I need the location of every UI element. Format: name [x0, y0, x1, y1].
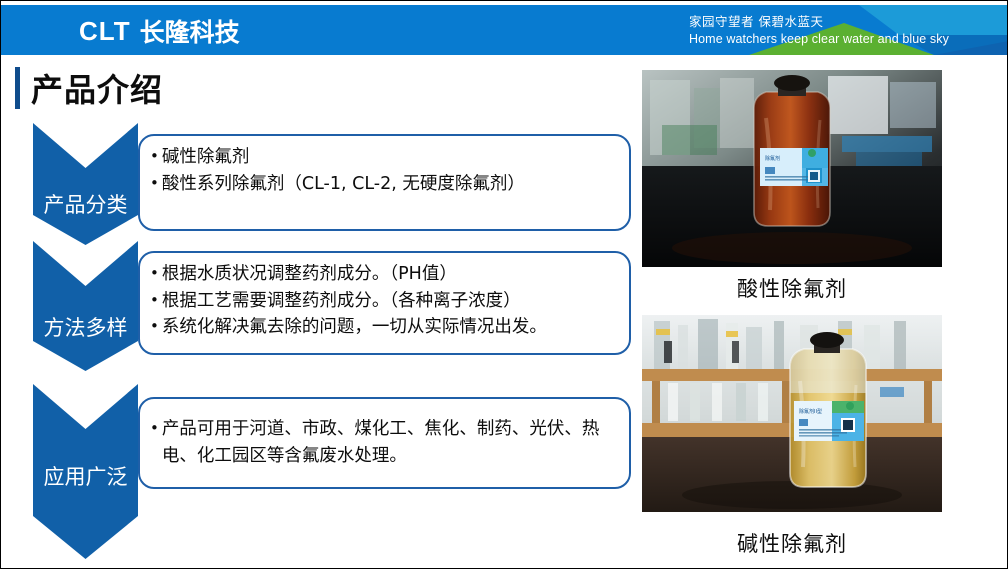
section-label-2: 方法多样	[33, 312, 138, 342]
section-bubble-1: • 碱性除氟剂 • 酸性系列除氟剂（CL-1, CL-2, 无硬度除氟剂）	[138, 134, 631, 231]
product-photo-alkaline-svg: 除氟剂II型	[642, 315, 942, 512]
product-photo-acidic: 除氟剂	[642, 70, 942, 267]
slogan-english: Home watchers keep clear water and blue …	[689, 31, 949, 48]
title-text: 产品介绍	[31, 65, 163, 111]
product-photo-alkaline: 除氟剂II型	[642, 315, 942, 512]
logo-chinese-text: 长隆科技	[140, 13, 240, 49]
photo-caption-acidic: 酸性除氟剂	[642, 273, 942, 303]
bullet-item: • 产品可用于河道、市政、煤化工、焦化、制药、光伏、热电、化工园区等含氟废水处理…	[150, 416, 615, 469]
bullet-item: • 酸性系列除氟剂（CL-1, CL-2, 无硬度除氟剂）	[150, 171, 615, 198]
bullet-item: • 根据工艺需要调整药剂成分。（各种离子浓度）	[150, 288, 615, 315]
bottle-label-title: 除氟剂II型	[799, 408, 822, 415]
section-label-1: 产品分类	[33, 189, 138, 219]
product-photo-acidic-svg: 除氟剂	[642, 70, 942, 267]
bullet-dot-icon: •	[150, 171, 159, 195]
bullet-text: 酸性系列除氟剂（CL-1, CL-2, 无硬度除氟剂）	[162, 171, 525, 198]
title-accent-bar	[15, 67, 20, 109]
page-title: 产品介绍	[15, 65, 163, 111]
bullet-dot-icon: •	[150, 416, 159, 440]
bottle-label-title: 除氟剂	[765, 155, 780, 162]
slogan-block: 家园守望者 保碧水蓝天 Home watchers keep clear wat…	[689, 14, 949, 48]
section-label-3: 应用广泛	[33, 461, 138, 491]
chevron-2-svg	[33, 241, 138, 371]
company-logo: CLT 长隆科技	[79, 17, 240, 45]
bullet-dot-icon: •	[150, 144, 159, 168]
logo-latin-text: CLT	[79, 16, 131, 47]
chevron-shape-2	[33, 241, 138, 371]
slide: CLT 长隆科技 家园守望者 保碧水蓝天 Home watchers keep …	[0, 0, 1008, 569]
bullet-dot-icon: •	[150, 314, 159, 338]
bullet-text: 产品可用于河道、市政、煤化工、焦化、制药、光伏、热电、化工园区等含氟废水处理。	[162, 416, 615, 469]
photo-caption-alkaline: 碱性除氟剂	[642, 528, 942, 558]
slogan-chinese: 家园守望者 保碧水蓝天	[689, 14, 949, 31]
chevron-shape-1	[33, 123, 138, 245]
bullet-item: • 碱性除氟剂	[150, 144, 615, 171]
header-banner: CLT 长隆科技 家园守望者 保碧水蓝天 Home watchers keep …	[1, 5, 1008, 55]
bullet-text: 根据工艺需要调整药剂成分。（各种离子浓度）	[162, 288, 521, 315]
bullet-dot-icon: •	[150, 288, 159, 312]
bullet-item: • 系统化解决氟去除的问题，一切从实际情况出发。	[150, 314, 615, 341]
bullet-dot-icon: •	[150, 261, 159, 285]
bullet-text: 系统化解决氟去除的问题，一切从实际情况出发。	[162, 314, 547, 341]
section-bubble-2: • 根据水质状况调整药剂成分。（PH值） • 根据工艺需要调整药剂成分。（各种离…	[138, 251, 631, 355]
bullet-text: 根据水质状况调整药剂成分。（PH值）	[162, 261, 457, 288]
bullet-text: 碱性除氟剂	[162, 144, 250, 171]
bullet-item: • 根据水质状况调整药剂成分。（PH值）	[150, 261, 615, 288]
section-bubble-3: • 产品可用于河道、市政、煤化工、焦化、制药、光伏、热电、化工园区等含氟废水处理…	[138, 397, 631, 489]
chevron-1-svg	[33, 123, 138, 245]
